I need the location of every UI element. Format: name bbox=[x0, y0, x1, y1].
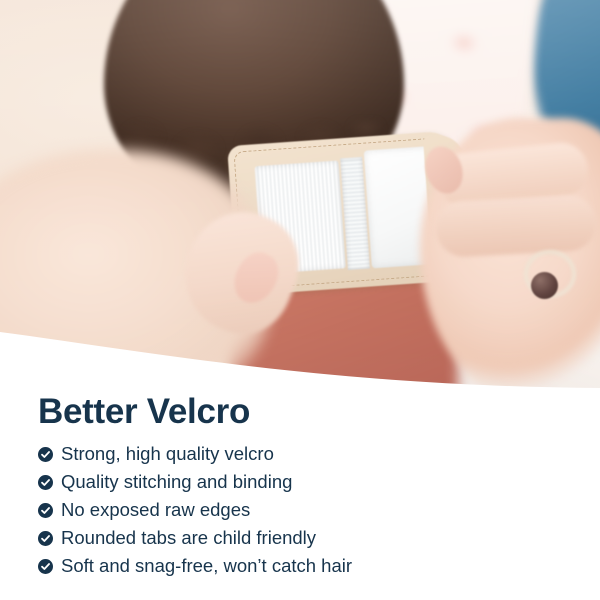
feature-list: Strong, high quality velcro Quality stit… bbox=[38, 440, 578, 580]
list-item: No exposed raw edges bbox=[38, 496, 578, 524]
product-lifestyle-photo bbox=[0, 0, 600, 400]
list-item: Soft and snag-free, won’t catch hair bbox=[38, 552, 578, 580]
check-circle-icon bbox=[38, 475, 53, 490]
photo-right-finger-middle bbox=[435, 194, 598, 258]
feature-label: Strong, high quality velcro bbox=[61, 443, 274, 465]
feature-label: Soft and snag-free, won’t catch hair bbox=[61, 555, 352, 577]
page-title: Better Velcro bbox=[38, 392, 578, 432]
product-feature-card: Better Velcro Strong, high quality velcr… bbox=[0, 0, 600, 600]
check-circle-icon bbox=[38, 531, 53, 546]
list-item: Quality stitching and binding bbox=[38, 468, 578, 496]
feature-label: Rounded tabs are child friendly bbox=[61, 527, 316, 549]
feature-label: No exposed raw edges bbox=[61, 499, 250, 521]
check-circle-icon bbox=[38, 559, 53, 574]
photo-ring-pearl bbox=[531, 272, 558, 299]
list-item: Rounded tabs are child friendly bbox=[38, 524, 578, 552]
feature-content-block: Better Velcro Strong, high quality velcr… bbox=[38, 392, 578, 580]
feature-label: Quality stitching and binding bbox=[61, 471, 292, 493]
check-circle-icon bbox=[38, 447, 53, 462]
check-circle-icon bbox=[38, 503, 53, 518]
list-item: Strong, high quality velcro bbox=[38, 440, 578, 468]
